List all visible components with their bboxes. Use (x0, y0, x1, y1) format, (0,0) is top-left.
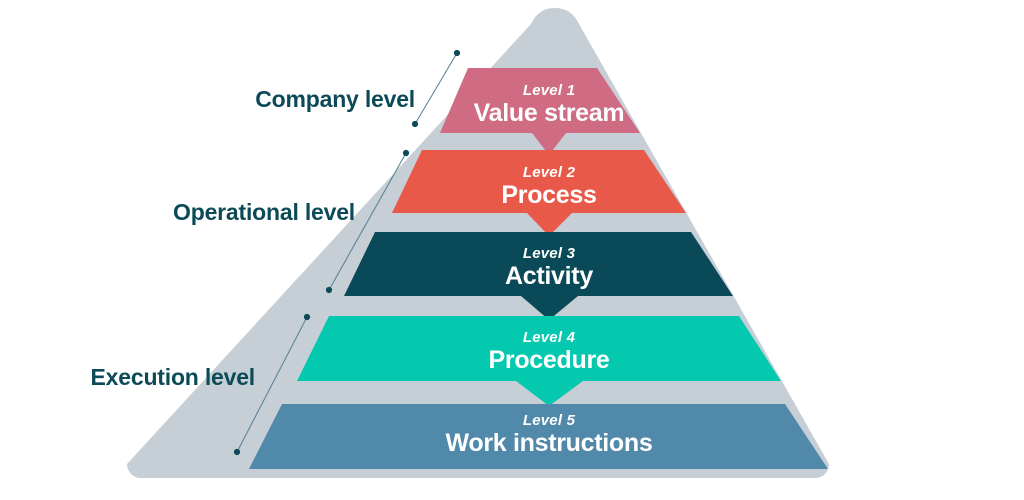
tier-1-name-label: Value stream (474, 99, 625, 127)
tier-4-level-label: Level 4 (523, 329, 576, 346)
tier-5-level-label: Level 5 (523, 412, 576, 429)
tier-5-name-label: Work instructions (446, 429, 653, 457)
pyramid-diagram: Level 1 Value stream Level 2 Process Lev… (0, 0, 1024, 500)
tier-4-name-label: Procedure (489, 346, 610, 374)
tier-3-level-label: Level 3 (523, 245, 576, 262)
side-label-execution-level: Execution level (91, 364, 255, 391)
tier-3-name-label: Activity (505, 262, 593, 290)
tier-2-name-label: Process (501, 181, 596, 209)
side-label-company-level: Company level (255, 86, 415, 113)
pyramid-tier-5[interactable]: Level 5 Work instructions (249, 404, 828, 469)
tier-1-level-label: Level 1 (523, 82, 575, 99)
tier-2-level-label: Level 2 (523, 164, 576, 181)
side-label-operational-level: Operational level (173, 199, 355, 226)
diagram-canvas: Level 1 Value stream Level 2 Process Lev… (0, 0, 1024, 500)
